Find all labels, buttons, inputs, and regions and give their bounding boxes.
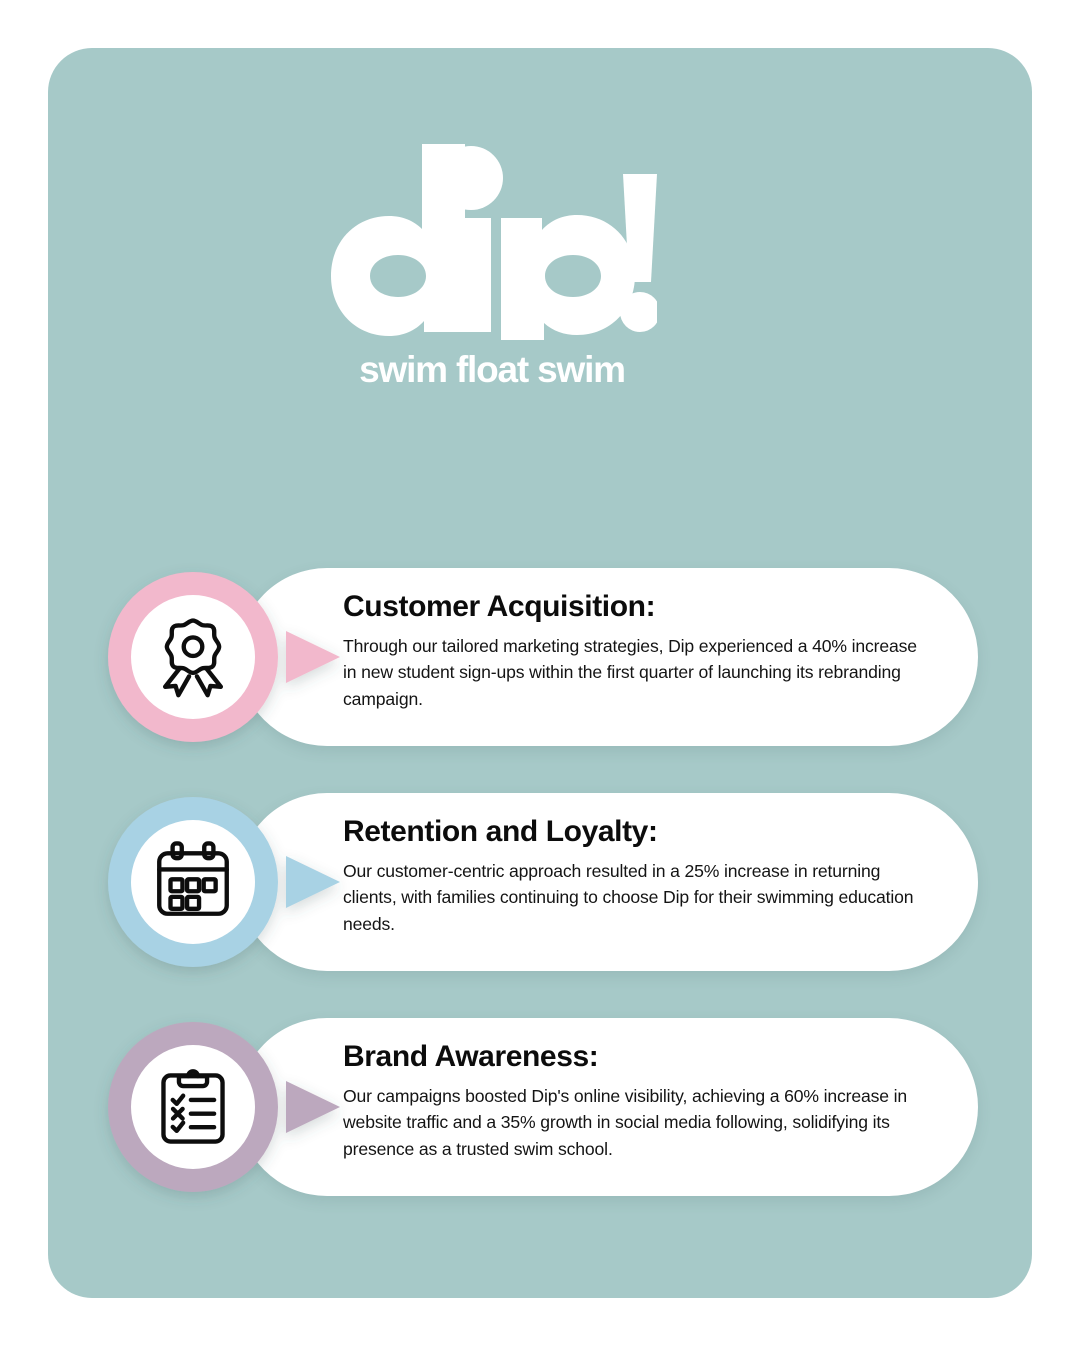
card-title: Customer Acquisition: [343, 590, 932, 624]
calendar-icon [148, 835, 238, 925]
card-body-panel: Brand Awareness: Our campaigns boosted D… [238, 1018, 978, 1196]
card-description: Our customer-centric approach resulted i… [343, 858, 932, 938]
card-body-panel: Customer Acquisition: Through our tailor… [238, 568, 978, 746]
card-title: Brand Awareness: [343, 1040, 932, 1074]
clipboard-checklist-icon [148, 1060, 238, 1150]
award-ribbon-icon [148, 610, 238, 700]
card-brand-awareness[interactable]: Brand Awareness: Our campaigns boosted D… [108, 1018, 978, 1196]
infographic-canvas: swim float swim Customer Acquisition: Th… [0, 0, 1080, 1350]
wordmark-dip-icon [327, 140, 657, 340]
card-title: Retention and Loyalty: [343, 815, 932, 849]
tagline-swim-float-swim-icon: swim float swim [327, 346, 657, 392]
card-description: Through our tailored marketing strategie… [343, 633, 932, 713]
card-customer-acquisition[interactable]: Customer Acquisition: Through our tailor… [108, 568, 978, 746]
card-retention-and-loyalty[interactable]: Retention and Loyalty: Our customer-cent… [108, 793, 978, 971]
svg-text:swim float swim: swim float swim [359, 349, 625, 390]
brand-logo: swim float swim [0, 140, 984, 392]
card-body-panel: Retention and Loyalty: Our customer-cent… [238, 793, 978, 971]
card-description: Our campaigns boosted Dip's online visib… [343, 1083, 932, 1163]
